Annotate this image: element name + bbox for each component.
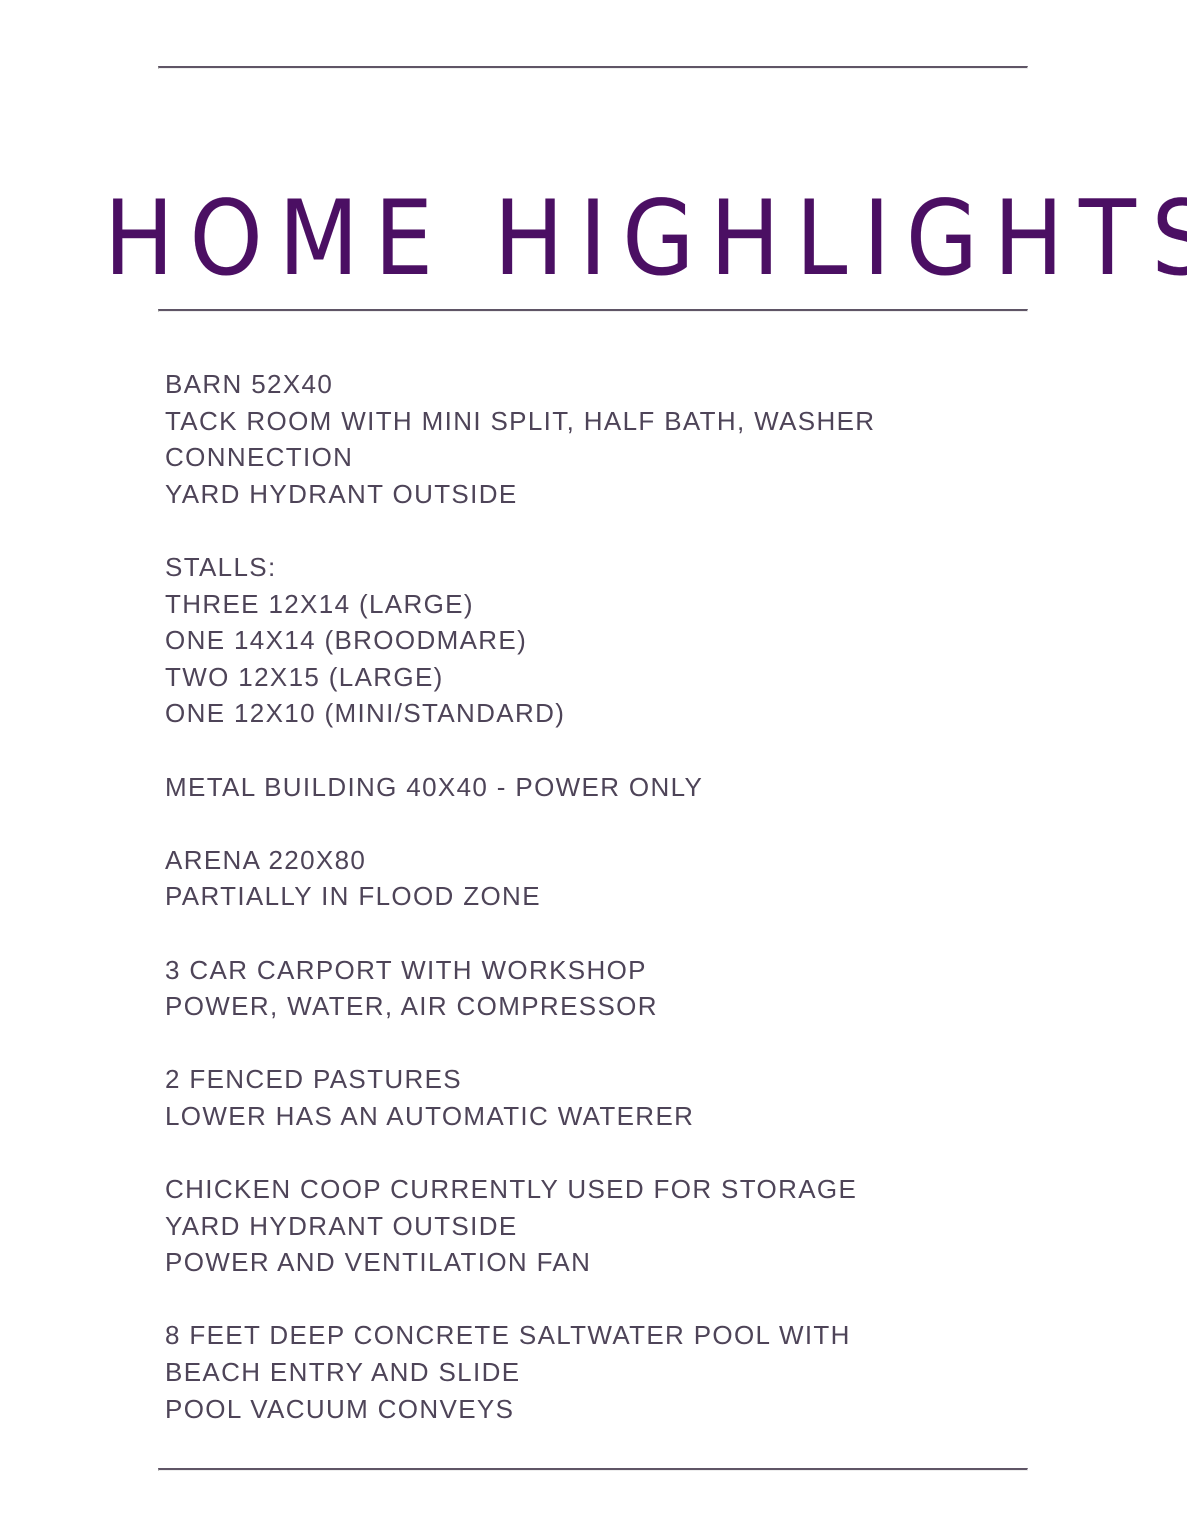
list-item: BEACH ENTRY AND SLIDE [165, 1354, 1065, 1391]
list-item: ONE 14X14 (BROODMARE) [165, 622, 1065, 659]
list-item: ONE 12X10 (MINI/STANDARD) [165, 695, 1065, 732]
divider-under-title [158, 309, 1028, 312]
page-title: HOME HIGHLIGHTS [104, 182, 1064, 294]
list-item: YARD HYDRANT OUTSIDE [165, 1208, 1065, 1245]
list-item: LOWER HAS AN AUTOMATIC WATERER [165, 1098, 1065, 1135]
section-arena: ARENA 220X80 PARTIALLY IN FLOOD ZONE [165, 842, 1065, 915]
section-stalls: STALLS: THREE 12X14 (LARGE) ONE 14X14 (B… [165, 549, 1065, 732]
section-barn: BARN 52X40 TACK ROOM WITH MINI SPLIT, HA… [165, 366, 1065, 512]
list-item: THREE 12X14 (LARGE) [165, 586, 1065, 623]
section-pastures: 2 FENCED PASTURES LOWER HAS AN AUTOMATIC… [165, 1061, 1065, 1134]
list-item: POWER AND VENTILATION FAN [165, 1244, 1065, 1281]
list-item: ARENA 220X80 [165, 842, 1065, 879]
list-item: TACK ROOM WITH MINI SPLIT, HALF BATH, WA… [165, 403, 1065, 440]
list-item: 2 FENCED PASTURES [165, 1061, 1065, 1098]
list-item: YARD HYDRANT OUTSIDE [165, 476, 1065, 513]
divider-top [158, 66, 1028, 69]
list-item: STALLS: [165, 549, 1065, 586]
list-item: POOL VACUUM CONVEYS [165, 1391, 1065, 1428]
list-item: METAL BUILDING 40X40 - POWER ONLY [165, 769, 1065, 806]
list-item: 8 FEET DEEP CONCRETE SALTWATER POOL WITH [165, 1317, 1065, 1354]
section-chicken-coop: CHICKEN COOP CURRENTLY USED FOR STORAGE … [165, 1171, 1065, 1281]
section-metal-building: METAL BUILDING 40X40 - POWER ONLY [165, 769, 1065, 806]
list-item: CHICKEN COOP CURRENTLY USED FOR STORAGE [165, 1171, 1065, 1208]
section-carport: 3 CAR CARPORT WITH WORKSHOP POWER, WATER… [165, 952, 1065, 1025]
list-item: 3 CAR CARPORT WITH WORKSHOP [165, 952, 1065, 989]
section-pool: 8 FEET DEEP CONCRETE SALTWATER POOL WITH… [165, 1317, 1065, 1427]
list-item: CONNECTION [165, 439, 1065, 476]
list-item: POWER, WATER, AIR COMPRESSOR [165, 988, 1065, 1025]
list-item: PARTIALLY IN FLOOD ZONE [165, 878, 1065, 915]
highlights-list: BARN 52X40 TACK ROOM WITH MINI SPLIT, HA… [165, 366, 1065, 1427]
list-item: TWO 12X15 (LARGE) [165, 659, 1065, 696]
flyer-page: HOME HIGHLIGHTS BARN 52X40 TACK ROOM WIT… [0, 0, 1187, 1536]
list-item: BARN 52X40 [165, 366, 1065, 403]
divider-bottom [158, 1468, 1028, 1471]
